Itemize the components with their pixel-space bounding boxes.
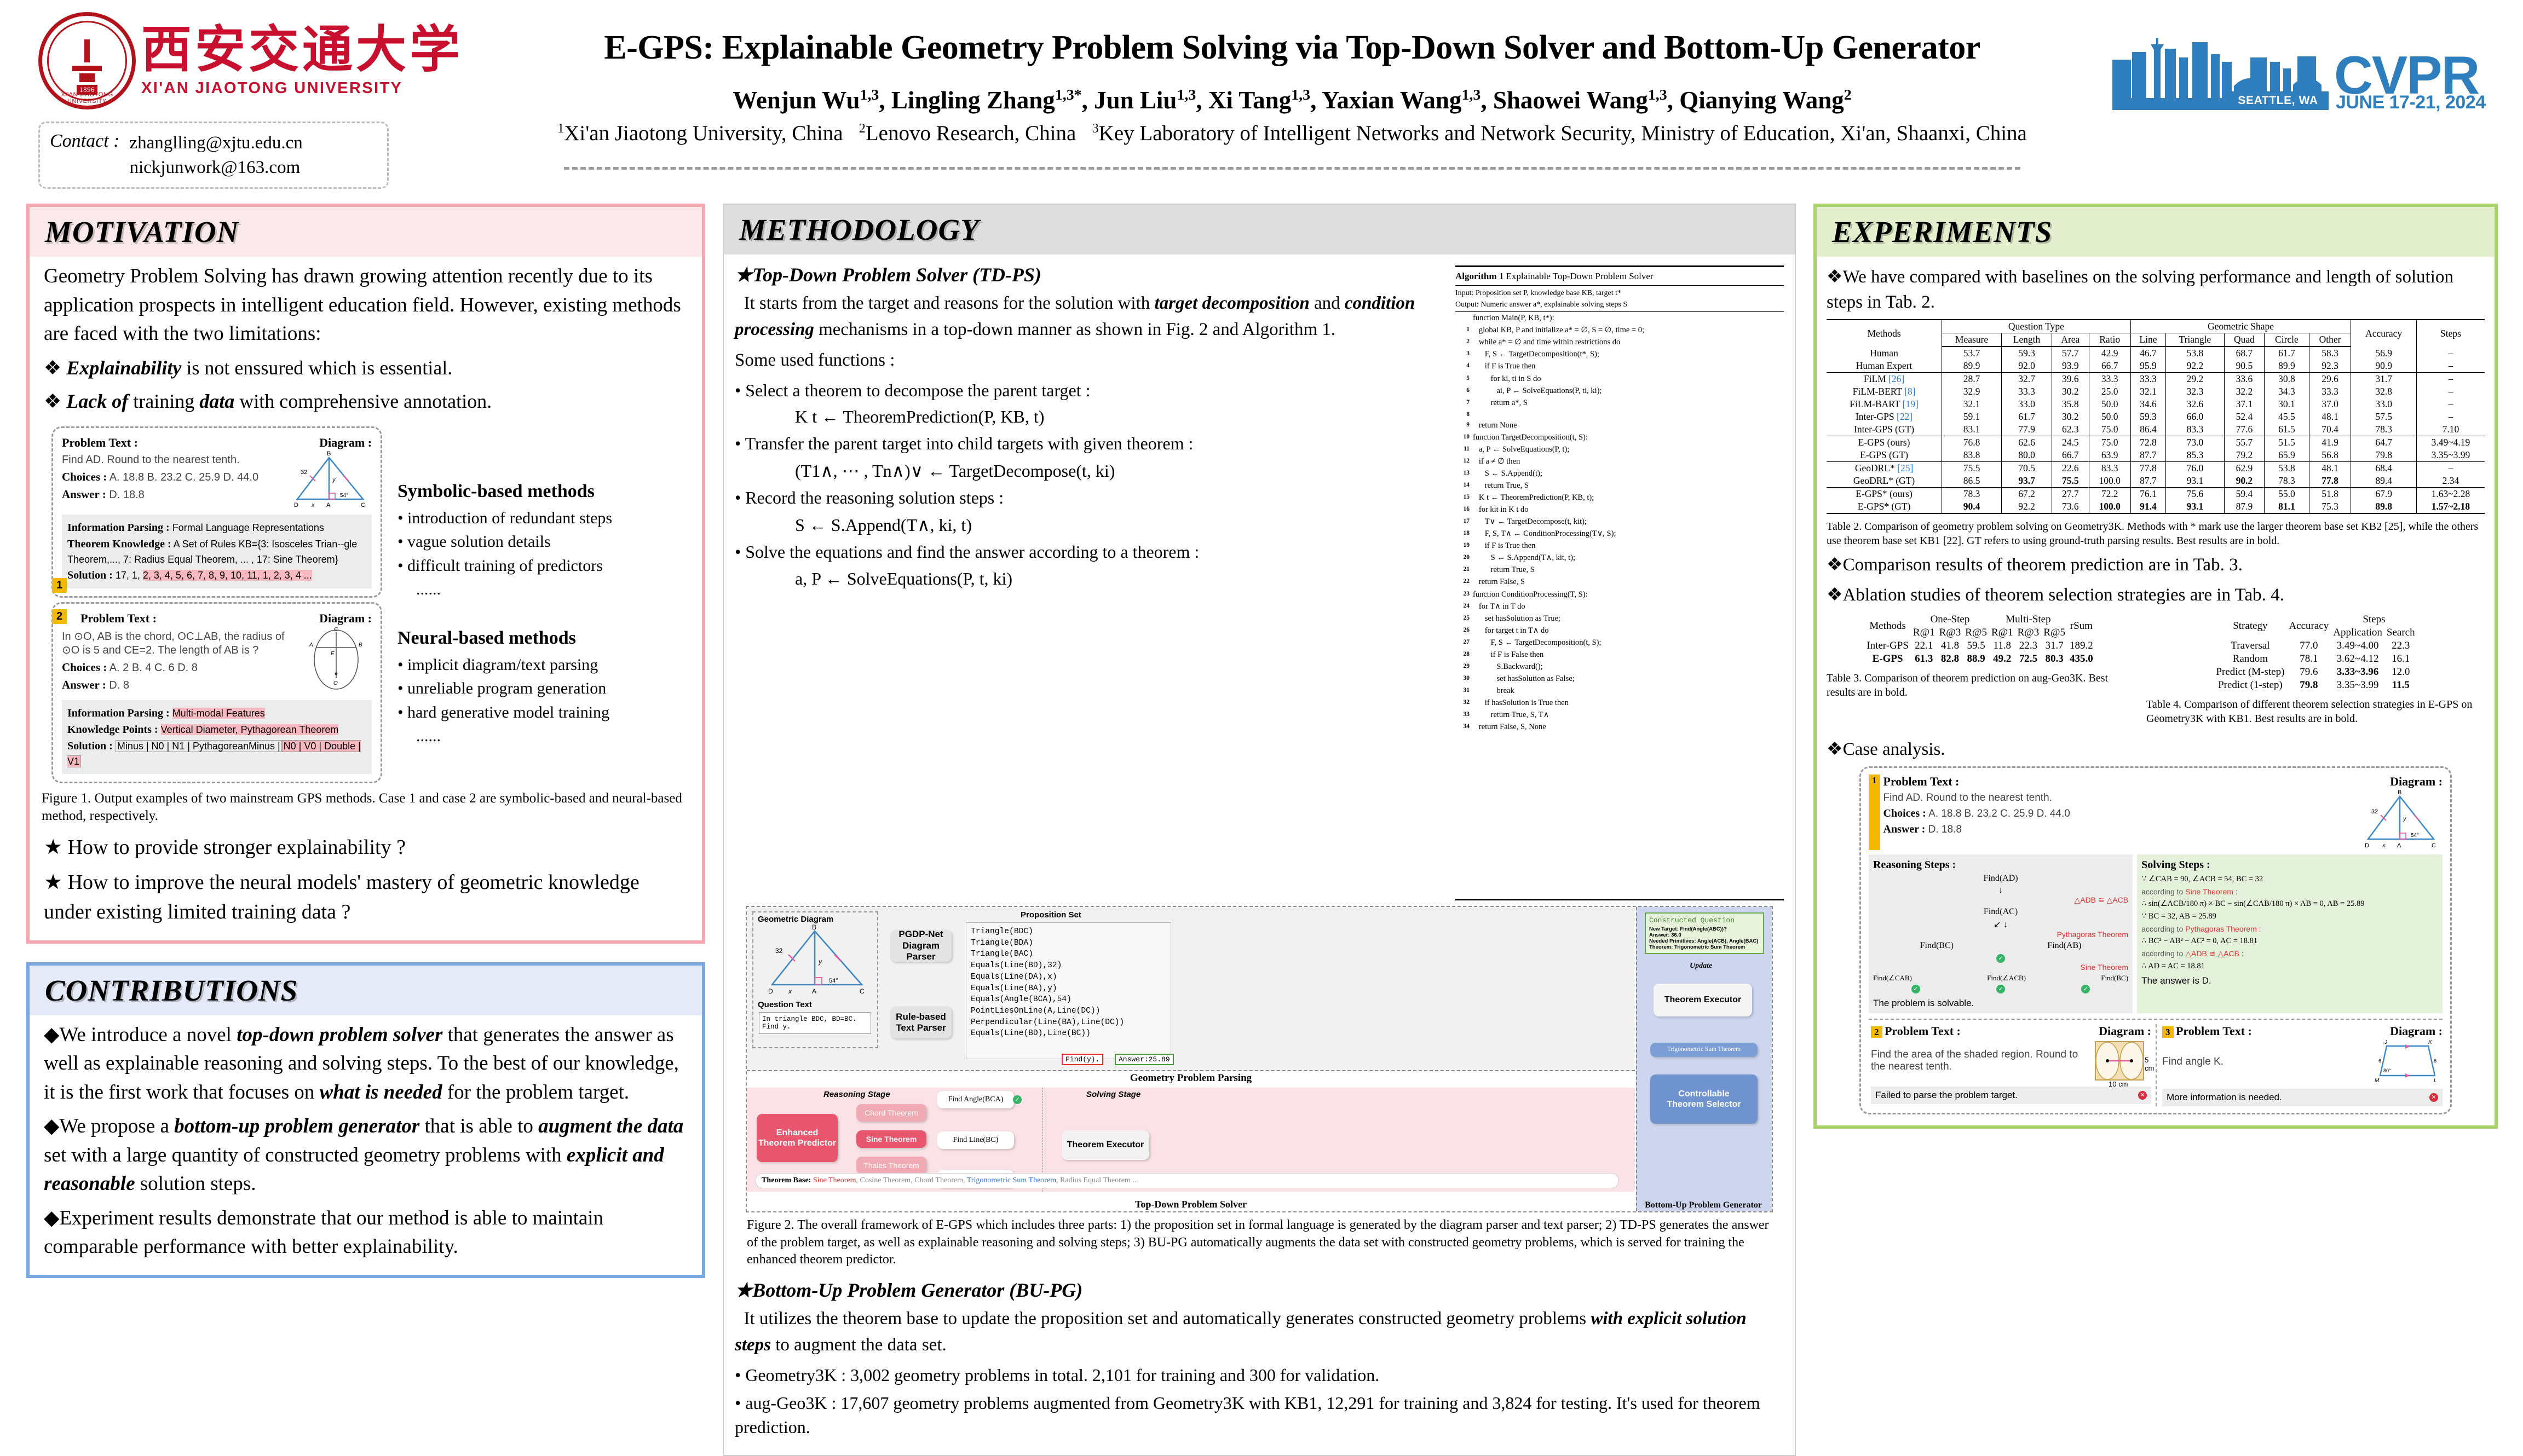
reasoning-node-4: Find(AB) bbox=[2047, 941, 2081, 951]
algorithm-line-number: 14 bbox=[1455, 479, 1470, 492]
table-cell: 33.3 bbox=[2309, 385, 2351, 398]
figure1-cases: 1 Problem Text : Diagram : Find AD. Roun… bbox=[42, 421, 392, 783]
table-cell: 68.7 bbox=[2224, 346, 2265, 360]
algorithm-line: 4 if F is True then bbox=[1455, 360, 1784, 372]
algorithm-line-code: if a ≠ ∅ then bbox=[1473, 455, 1784, 467]
cvpr-city-band: SEATTLE, WA bbox=[2227, 91, 2329, 110]
motivation-heading: MOTIVATION bbox=[30, 207, 702, 257]
figure2-target-line-bc[interactable]: Find Line(BC) bbox=[937, 1131, 1014, 1149]
table-cell: 81.1 bbox=[2265, 500, 2309, 513]
svg-text:x: x bbox=[2382, 842, 2386, 849]
algorithm-line: 5 for ki, ti in S do bbox=[1455, 373, 1784, 385]
contribution-item-2: ◆We propose a bottom-up problem generato… bbox=[44, 1112, 688, 1199]
algorithm-line-number: 33 bbox=[1455, 709, 1470, 721]
table-row: Random78.13.62~4.1216.1 bbox=[2214, 652, 2417, 666]
case-2-choices-label: Choices : bbox=[62, 661, 107, 674]
algorithm-line: 6 ai, P ← SolveEquations(P, ti, ki); bbox=[1455, 385, 1784, 397]
algorithm-line-number: 10 bbox=[1455, 431, 1470, 443]
table-cell: 51.8 bbox=[2309, 488, 2351, 501]
table-cell: 55.7 bbox=[2224, 436, 2265, 449]
svg-text:A: A bbox=[309, 642, 313, 648]
table-row: FiLM-BERT [8]32.933.330.225.032.132.332.… bbox=[1827, 385, 2485, 398]
table-cell: 83.1 bbox=[1942, 423, 2002, 436]
algorithm-line-code bbox=[1473, 409, 1784, 419]
table-cell: 53.7 bbox=[1942, 346, 2002, 360]
reasoning-node-2: Find(AC) bbox=[1873, 907, 2128, 917]
algorithm-line-number: 20 bbox=[1455, 552, 1470, 564]
table-cell: 33.6 bbox=[2224, 373, 2265, 386]
figure2-parsing-label: Geometry Problem Parsing bbox=[747, 1072, 1635, 1088]
table-3-caption: Table 3. Comparison of theorem predictio… bbox=[1827, 671, 2133, 700]
algorithm-line: 10function TargetDecomposition(t, S): bbox=[1455, 431, 1784, 443]
algorithm-line-number: 28 bbox=[1455, 649, 1470, 661]
table-2: MethodsQuestion TypeGeometric ShapeAccur… bbox=[1827, 319, 2485, 514]
table-group-header: Steps bbox=[2331, 613, 2417, 626]
table-cell: – bbox=[2416, 373, 2485, 386]
table-row: Inter-GPS [22]59.161.730.250.059.366.052… bbox=[1827, 411, 2485, 423]
case-analysis-problem-label: Problem Text : bbox=[1883, 775, 1960, 789]
figure2-question-text: In triangle BDC, BD=BC. Find y. bbox=[759, 1012, 871, 1034]
table-cell: Predict (M-step) bbox=[2214, 666, 2286, 679]
case-analysis-3-number: 3 bbox=[2162, 1026, 2174, 1038]
case-analysis-2: 2 Problem Text : Diagram : Find the area… bbox=[1869, 1024, 2151, 1106]
figure2-trig-chip[interactable]: Trigonometric Sum Theorem bbox=[1650, 1043, 1758, 1057]
case-1-solution-highlight: 2, 3, 4, 5, 6, 7, 8, 9, 10, 11, 1, 2, 3,… bbox=[143, 570, 312, 581]
table-2-group-header: Steps bbox=[2416, 320, 2485, 346]
algorithm-line: 18 F, S, T∧ ← ConditionProcessing(T∨, S)… bbox=[1455, 528, 1784, 540]
case-analysis-1-number: 1 bbox=[1869, 775, 1880, 850]
table-cell: E-GPS* (GT) bbox=[1827, 500, 1942, 513]
table-cell: 67.2 bbox=[2001, 488, 2052, 501]
case-solving-result: The answer is D. bbox=[2141, 975, 2438, 986]
table-cell: 2.34 bbox=[2416, 475, 2485, 488]
table-cell: FiLM [26] bbox=[1827, 373, 1942, 386]
symbolic-item-1: • introduction of redundant steps bbox=[398, 506, 690, 530]
case-analysis-2-text: Find the area of the shaded region. Roun… bbox=[1871, 1049, 2094, 1073]
table-cell: 59.5 bbox=[1963, 639, 1989, 652]
algorithm-line-number: 23 bbox=[1455, 588, 1470, 600]
table-group-header-row: StrategyAccuracySteps bbox=[2214, 613, 2417, 626]
table-cell: 95.9 bbox=[2130, 360, 2166, 373]
table-cell: 22.6 bbox=[2052, 462, 2089, 475]
table-cell: 66.7 bbox=[2052, 449, 2089, 462]
figure2-theorem-selector-box[interactable]: Controllable Theorem Selector bbox=[1650, 1074, 1758, 1124]
case-reasoning-label: Reasoning Steps : bbox=[1873, 859, 2128, 871]
table-cell: 66.7 bbox=[2089, 360, 2130, 373]
table-cell: 72.2 bbox=[2089, 488, 2130, 501]
table-cell: – bbox=[2416, 360, 2485, 373]
case-1-diagram-label: Diagram : bbox=[319, 436, 372, 450]
table-cell: 56.9 bbox=[2351, 346, 2417, 360]
case-analysis-figure: 1 Problem Text : Diagram : Find AD. Roun… bbox=[1859, 766, 2452, 1114]
svg-text:C: C bbox=[860, 987, 865, 995]
algorithm-line-number: 3 bbox=[1455, 348, 1470, 360]
table-cell: 51.5 bbox=[2265, 436, 2309, 449]
case-2-info-label: Information Parsing : bbox=[67, 707, 170, 719]
university-name-en: XI'AN JIAOTONG UNIVERSITY bbox=[141, 79, 463, 97]
table-2-column-header: Quad bbox=[2224, 333, 2265, 347]
table-cell: 32.9 bbox=[1942, 385, 2002, 398]
bupg-dataset-2: • aug-Geo3K : 17,607 geometry problems a… bbox=[735, 1391, 1784, 1440]
case-analysis-3-result: More information is needed. ✕ bbox=[2162, 1089, 2443, 1106]
algorithm-line-code: ai, P ← SolveEquations(P, ti, ki); bbox=[1473, 385, 1784, 397]
contact-email-1[interactable]: zhanglling@xjtu.edu.cn bbox=[129, 131, 302, 155]
motivation-figure-row: 1 Problem Text : Diagram : Find AD. Roun… bbox=[30, 421, 702, 783]
table-2-column-header: Measure bbox=[1942, 333, 2002, 347]
table-cell: 79.6 bbox=[2286, 666, 2331, 679]
algorithm-line-code: return None bbox=[1473, 419, 1784, 431]
neural-item-3: • hard generative model training bbox=[398, 701, 690, 725]
figure2-text-parser-box[interactable]: Rule-based Text Parser bbox=[890, 1007, 952, 1038]
motivation-limit-2: ❖ Lack of training data with comprehensi… bbox=[44, 388, 688, 415]
figure2-theorem-thales[interactable]: Thales Theorem bbox=[856, 1157, 926, 1174]
algorithm-line: 16 for kit in K t do bbox=[1455, 504, 1784, 516]
svg-text:32: 32 bbox=[2371, 808, 2378, 815]
case-2-diagram-label: Diagram : bbox=[319, 611, 372, 626]
table-row: FiLM-BART [19]32.133.035.850.034.632.637… bbox=[1827, 398, 2485, 411]
case-analysis-2-dim-height: 5 cm bbox=[2145, 1056, 2154, 1072]
table-2-column-header: Ratio bbox=[2089, 333, 2130, 347]
table-cell: 70.4 bbox=[2309, 423, 2351, 436]
tdps-title: ★Top-Down Problem Solver (TD-PS) bbox=[735, 263, 1447, 286]
table-row: Inter-GPS22.141.859.511.822.331.7189.2 bbox=[1864, 639, 2095, 652]
figure2-theorem-sine[interactable]: Sine Theorem bbox=[856, 1130, 926, 1148]
table-cell: 46.7 bbox=[2130, 346, 2166, 360]
experiments-bullet-3: ❖Ablation studies of theorem selection s… bbox=[1827, 582, 2485, 608]
seal-year: 1896 bbox=[77, 85, 97, 95]
table-row: Predict (1-step)79.83.35~3.9911.5 bbox=[2214, 679, 2417, 692]
figure2-theorem-executor-left[interactable]: Theorem Executor bbox=[1062, 1130, 1149, 1160]
algorithm-line: 2 while a* = ∅ and time within restricti… bbox=[1455, 336, 1784, 348]
table-cell: 32.7 bbox=[2001, 373, 2052, 386]
table-row: GeoDRL* (GT)86.593.775.5100.087.793.190.… bbox=[1827, 475, 2485, 488]
algorithm-line: 17 T∨ ← TargetDecompose(t, kit); bbox=[1455, 516, 1784, 528]
table-cell: 87.7 bbox=[2130, 449, 2166, 462]
figure2-diagram-parser-box[interactable]: PGDP-Net Diagram Parser bbox=[890, 930, 952, 962]
algorithm-line-code: set hasSolution as True; bbox=[1473, 613, 1784, 625]
algorithm-line: 22 return False, S bbox=[1455, 576, 1784, 588]
algorithm-line-code: global KB, P and initialize a* = ∅, S = … bbox=[1473, 324, 1784, 336]
table-cell: 49.2 bbox=[1989, 652, 2015, 666]
table-cell: 88.9 bbox=[1963, 652, 1989, 666]
algorithm-line-number: 25 bbox=[1455, 613, 1470, 625]
table-cell: 189.2 bbox=[2067, 639, 2095, 652]
algorithm-line: 11 a, P ← SolveEquations(P, t); bbox=[1455, 443, 1784, 455]
table-cell: 62.9 bbox=[2224, 462, 2265, 475]
algorithm-line-code: while a* = ∅ and time within restriction… bbox=[1473, 336, 1784, 348]
table-cell: 30.2 bbox=[2052, 385, 2089, 398]
svg-text:O: O bbox=[333, 680, 338, 686]
symbolic-item-2: • vague solution details bbox=[398, 530, 690, 554]
svg-text:B: B bbox=[812, 925, 816, 931]
table-cell: 25.0 bbox=[2089, 385, 2130, 398]
svg-text:B: B bbox=[2398, 789, 2401, 796]
figure2-find-tag: Find(y). bbox=[1062, 1054, 1103, 1065]
case-reasoning-result: The problem is solvable. bbox=[1873, 998, 2128, 1009]
case-analysis-3-text: Find angle K. bbox=[2162, 1056, 2371, 1068]
table-cell: 86.4 bbox=[2130, 423, 2166, 436]
university-seal-icon: 1896 XI'AN JIAOTONG UNIVERSITY bbox=[38, 12, 136, 109]
table-cell: 48.1 bbox=[2309, 462, 2351, 475]
contributions-heading: CONTRIBUTIONS bbox=[30, 966, 702, 1015]
table-cell: 61.3 bbox=[1911, 652, 1937, 666]
table-cell: 92.3 bbox=[2309, 360, 2351, 373]
table-3: MethodsOne-StepMulti-SteprSumR@1R@3R@5R@… bbox=[1864, 613, 2095, 666]
figure1-caption: Figure 1. Output examples of two mainstr… bbox=[30, 783, 702, 825]
neural-item-1: • implicit diagram/text parsing bbox=[398, 653, 690, 677]
table-cell: 32.1 bbox=[1942, 398, 2002, 411]
case-analysis-2-diagram-label: Diagram : bbox=[2099, 1024, 2151, 1038]
algorithm-line: 8 bbox=[1455, 409, 1784, 419]
table-2-column-header: Circle bbox=[2265, 333, 2309, 347]
table-cell: 80.3 bbox=[2041, 652, 2067, 666]
case-analysis-choices-label: Choices : bbox=[1883, 807, 1926, 819]
figure2-triangle-icon: B32 y 54° Dx AC bbox=[760, 925, 875, 997]
case-analysis-3: 3 Problem Text : Diagram : Find angle K.… bbox=[2156, 1024, 2443, 1106]
case-2-answer: D. 8 bbox=[109, 679, 129, 691]
proposition-1: Triangle(BDC) bbox=[971, 926, 1166, 938]
symbolic-methods-title: Symbolic-based methods bbox=[398, 481, 690, 502]
case-1-problem-label: Problem Text : bbox=[62, 436, 138, 450]
motivation-paragraph: Geometry Problem Solving has drawn growi… bbox=[44, 262, 688, 349]
contact-email-2[interactable]: nickjunwork@163.com bbox=[129, 155, 302, 180]
case-card-1: 1 Problem Text : Diagram : Find AD. Roun… bbox=[51, 426, 382, 598]
algorithm-line: 32 if hasSolution is True then bbox=[1455, 697, 1784, 709]
algorithm-line-code: F, S, T∧ ← ConditionProcessing(T∨, S); bbox=[1473, 528, 1784, 540]
table-cell: 1.57~2.18 bbox=[2416, 500, 2485, 513]
case-2-choices: A. 2 B. 4 C. 6 D. 8 bbox=[110, 662, 198, 674]
tdps-function-2-eq: (T1∧, ⋯ , Tn∧)∨ ← TargetDecompose(t, ki) bbox=[735, 460, 1447, 481]
tdps-function-1-eq: K t ← TheoremPrediction(P, KB, t) bbox=[735, 407, 1447, 427]
table-cell: 63.9 bbox=[2089, 449, 2130, 462]
case-analysis-1-answer: D. 18.8 bbox=[1928, 824, 1962, 835]
algorithm-line-code: return a*, S bbox=[1473, 397, 1784, 409]
table-cell: 35.8 bbox=[2052, 398, 2089, 411]
svg-text:E: E bbox=[331, 651, 335, 657]
solving-line-6: ∴ BC² − AB² − AC² = 0, AC = 18.81 bbox=[2141, 937, 2438, 946]
algorithm-line-code: if F is False then bbox=[1473, 649, 1784, 661]
table-cell: Predict (1-step) bbox=[2214, 679, 2286, 692]
table-2-column-header: Other bbox=[2309, 333, 2351, 347]
table-group-header: Strategy bbox=[2214, 613, 2286, 639]
table-cell: Inter-GPS (GT) bbox=[1827, 423, 1942, 436]
neural-item-2: • unreliable program generation bbox=[398, 677, 690, 701]
table-group-header: Multi-Step bbox=[1989, 613, 2067, 626]
solving-line-3: ∴ sin(∠ACB/180 π) × BC − sin(∠CAB/180 π)… bbox=[2141, 899, 2438, 909]
table-cell: 53.8 bbox=[2265, 462, 2309, 475]
experiments-heading: EXPERIMENTS bbox=[1817, 207, 2495, 257]
solving-line-1: ∵ ∠CAB = 90, ∠ACB = 54, BC = 32 bbox=[2141, 875, 2438, 884]
table-cell: 59.1 bbox=[1942, 411, 2002, 423]
table-cell: – bbox=[2416, 385, 2485, 398]
table-cell: 32.6 bbox=[2166, 398, 2224, 411]
table-cell: 7.10 bbox=[2416, 423, 2485, 436]
svg-text:54°: 54° bbox=[2411, 833, 2419, 839]
algorithm-title: Algorithm 1 Explainable Top-Down Problem… bbox=[1455, 269, 1784, 286]
table-cell: 83.3 bbox=[2166, 423, 2224, 436]
table-cell: 93.1 bbox=[2166, 475, 2224, 488]
table-cell: – bbox=[2416, 462, 2485, 475]
table-cell: 22.3 bbox=[2384, 639, 2417, 652]
figure2-answer-tag: Answer:25.89 bbox=[1115, 1054, 1174, 1065]
table-cell: 30.1 bbox=[2265, 398, 2309, 411]
table-cell: 77.6 bbox=[2224, 423, 2265, 436]
motivation-question-1: ★ How to provide stronger explainability… bbox=[44, 833, 688, 863]
table-column-header: R@5 bbox=[1963, 626, 1989, 639]
experiments-bullet-4: ❖Case analysis. bbox=[1827, 737, 2485, 762]
table-cell: 75.3 bbox=[2309, 500, 2351, 513]
reasoning-edge-3: Sine Theorem bbox=[1873, 963, 2128, 972]
table-cell: 41.9 bbox=[2309, 436, 2351, 449]
table-cell: 33.0 bbox=[2001, 398, 2052, 411]
case-1-triangle-diagram-icon: B 32 y 54° D x A C bbox=[290, 450, 372, 510]
table-cell: 75.6 bbox=[2166, 488, 2224, 501]
tdps-block: ★Top-Down Problem Solver (TD-PS) It star… bbox=[735, 258, 1447, 900]
table-row: Human53.759.357.742.946.753.868.761.758.… bbox=[1827, 346, 2485, 360]
case-analysis-2-problem-label: Problem Text : bbox=[1885, 1024, 1961, 1038]
tdps-function-2-text: • Transfer the parent target into child … bbox=[735, 431, 1447, 456]
table-cell: Inter-GPS [22] bbox=[1827, 411, 1942, 423]
title-block: E-GPS: Explainable Geometry Problem Solv… bbox=[482, 28, 2102, 146]
algorithm-line: 27 F, S ← TargetDecomposition(t, S); bbox=[1455, 637, 1784, 649]
figure2-constructed-needed: Needed Primitives: Angle(ACB), Angle(BAC… bbox=[1649, 938, 1760, 944]
motivation-body: Geometry Problem Solving has drawn growi… bbox=[30, 262, 702, 415]
table-cell: 24.5 bbox=[2052, 436, 2089, 449]
case-1-number: 1 bbox=[52, 578, 67, 593]
algorithm-line-number: 4 bbox=[1455, 360, 1470, 372]
algorithm-line: 1 global KB, P and initialize a* = ∅, S … bbox=[1455, 324, 1784, 336]
table-cell: 83.3 bbox=[2089, 462, 2130, 475]
table-cell: 90.2 bbox=[2224, 475, 2265, 488]
table-column-header: R@5 bbox=[2041, 626, 2067, 639]
figure2-geo-diagram-label: Geometric Diagram bbox=[758, 915, 833, 924]
algorithm-line-number: 15 bbox=[1455, 492, 1470, 504]
proposition-10: Equals(Line(BD),Line(BC)) bbox=[971, 1028, 1166, 1039]
table-2-column-header: Length bbox=[2001, 333, 2052, 347]
table-cell: 78.3 bbox=[1942, 488, 2002, 501]
experiments-bullet-1: ❖We have compared with baselines on the … bbox=[1827, 264, 2485, 315]
table-row: E-GPS61.382.888.949.272.580.3435.0 bbox=[1864, 652, 2095, 666]
table-group-header: One-Step bbox=[1911, 613, 1989, 626]
case-analysis-answer-label: Answer : bbox=[1883, 823, 1926, 835]
table-cell: 61.7 bbox=[2265, 346, 2309, 360]
table-cell: – bbox=[2416, 398, 2485, 411]
table-cell: 67.9 bbox=[2351, 488, 2417, 501]
figure2-parsing-region: Geometric Diagram B32 y 54° Dx AC bbox=[747, 907, 1635, 1071]
table-cell: 33.3 bbox=[2089, 373, 2130, 386]
table-cell: 22.1 bbox=[1911, 639, 1937, 652]
algorithm-line: 9 return None bbox=[1455, 419, 1784, 431]
tdps-function-1-text: • Select a theorem to decompose the pare… bbox=[735, 378, 1447, 403]
figure2-theorem-executor-right[interactable]: Theorem Executor bbox=[1654, 984, 1752, 1016]
table-cell: 93.9 bbox=[2052, 360, 2089, 373]
table-row: Predict (M-step)79.63.33~3.9612.0 bbox=[2214, 666, 2417, 679]
algorithm-line: 21 return True, S bbox=[1455, 564, 1784, 576]
svg-text:D: D bbox=[2365, 842, 2369, 849]
algorithm-line: 20 S ← S.Append(T∧, kit, t); bbox=[1455, 552, 1784, 564]
table-cell: 93.1 bbox=[2166, 500, 2224, 513]
table-cell: 100.0 bbox=[2089, 500, 2130, 513]
figure2-proposition-set: Triangle(BDC) Triangle(BDA) Triangle(BAC… bbox=[966, 922, 1171, 1059]
svg-text:y: y bbox=[818, 958, 822, 966]
algorithm-line-number bbox=[1455, 312, 1470, 324]
table-cell: 52.4 bbox=[2224, 411, 2265, 423]
algorithm-line-number: 27 bbox=[1455, 637, 1470, 649]
table-cell: E-GPS (ours) bbox=[1827, 436, 1942, 449]
algorithm-line-number: 6 bbox=[1455, 385, 1470, 397]
figure2-generator-region: Constructed Question New Target: Find(An… bbox=[1636, 907, 1772, 1211]
table-cell: 50.0 bbox=[2089, 398, 2130, 411]
case-analysis-2-shaded-circles-icon bbox=[2094, 1038, 2151, 1083]
svg-text:K: K bbox=[2428, 1039, 2433, 1045]
figure2-question-text-label: Question Text bbox=[758, 1000, 812, 1009]
table-cell: 91.4 bbox=[2130, 500, 2166, 513]
table-cell: 32.2 bbox=[2224, 385, 2265, 398]
table-cell: FiLM-BART [19] bbox=[1827, 398, 1942, 411]
algorithm-line: 13 S ← S.Append(t); bbox=[1455, 467, 1784, 479]
algorithm-line-number: 30 bbox=[1455, 673, 1470, 685]
algorithm-line-number: 31 bbox=[1455, 685, 1470, 697]
table-cell: 78.1 bbox=[2286, 652, 2331, 666]
table-row: E-GPS (ours)76.862.624.575.072.873.055.7… bbox=[1827, 436, 2485, 449]
algorithm-line: 33 return True, S, T∧ bbox=[1455, 709, 1784, 721]
author-list: Wenjun Wu1,3, Lingling Zhang1,3*, Jun Li… bbox=[482, 86, 2102, 114]
table-cell: 73.0 bbox=[2166, 436, 2224, 449]
svg-text:D: D bbox=[768, 987, 773, 995]
algorithm-line-code: F, S ← TargetDecomposition(t*, S); bbox=[1473, 348, 1784, 360]
case-2-number: 2 bbox=[52, 609, 67, 624]
case-2-knowledge-value: Vertical Diameter, Pythagorean Theorem bbox=[161, 724, 339, 735]
case-1-answer: D. 18.8 bbox=[109, 489, 144, 501]
neural-methods-title: Neural-based methods bbox=[398, 628, 690, 649]
algorithm-line-code: return True, S, T∧ bbox=[1473, 709, 1784, 721]
reasoning-edge-1: △ADB ≅ △ACB bbox=[1873, 895, 2128, 905]
case-1-info-label: Information Parsing : bbox=[67, 522, 170, 534]
figure2-solving-stage-label: Solving Stage bbox=[1086, 1090, 1140, 1099]
case-card-2: 2 Problem Text : Diagram : In ⊙O, AB is … bbox=[51, 602, 382, 783]
table-cell: 93.7 bbox=[2001, 475, 2052, 488]
table-cell: 32.8 bbox=[2351, 385, 2417, 398]
case-analysis-triangle-icon: B32 y 54° Dx AC bbox=[2360, 789, 2443, 850]
figure2-label-bu-pg: Bottom-Up Problem Generator bbox=[1635, 1200, 1772, 1210]
bupg-intro: It utilizes the theorem base to update t… bbox=[735, 1306, 1784, 1359]
figure2-framework: Geometric Diagram B32 y 54° Dx AC bbox=[746, 906, 1773, 1212]
figure2-target-angle-bca[interactable]: Find Angle(BCA) bbox=[937, 1091, 1014, 1108]
table-cell: 92.2 bbox=[2001, 500, 2052, 513]
table-column-header: R@3 bbox=[2015, 626, 2042, 639]
table-cell: E-GPS* (ours) bbox=[1827, 488, 1942, 501]
svg-text:B: B bbox=[327, 450, 331, 457]
table-cell: 53.8 bbox=[2166, 346, 2224, 360]
tdps-function-3-text: • Record the reasoning solution steps : bbox=[735, 486, 1447, 510]
figure2-label-td-ps: Top-Down Problem Solver bbox=[747, 1199, 1635, 1210]
table-cell: 76.8 bbox=[1942, 436, 2002, 449]
table-cell: Random bbox=[2214, 652, 2286, 666]
tdps-intro: It starts from the target and reasons fo… bbox=[735, 291, 1447, 343]
figure2-theorem-predictor-box[interactable]: Enhanced Theorem Predictor bbox=[757, 1114, 838, 1162]
table-cell: 78.3 bbox=[2265, 475, 2309, 488]
table-cell: 32.3 bbox=[2166, 385, 2224, 398]
algorithm-line-number: 1 bbox=[1455, 324, 1470, 336]
algorithm-line-code: function Main(P, KB, t*): bbox=[1473, 312, 1784, 324]
table-cell: E-GPS (GT) bbox=[1827, 449, 1942, 462]
table-cell: 16.1 bbox=[2384, 652, 2417, 666]
table-cell: 89.4 bbox=[2351, 475, 2417, 488]
table-cell: 77.0 bbox=[2286, 639, 2331, 652]
algorithm-line: 29 S.Backward(); bbox=[1455, 661, 1784, 673]
table-column-header: Search bbox=[2384, 626, 2417, 639]
figure2-theorem-chord[interactable]: Chord Theorem bbox=[856, 1104, 926, 1122]
